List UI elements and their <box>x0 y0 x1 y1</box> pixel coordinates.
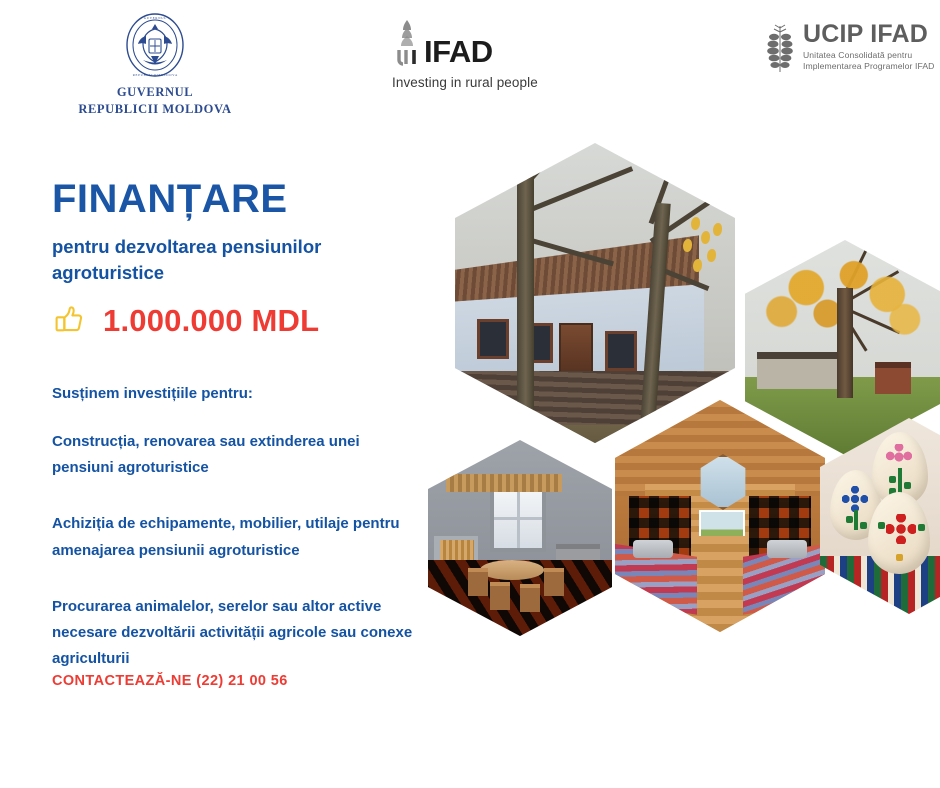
government-logo: G U V E R N U L R E P U B L I C I I M O … <box>40 12 270 118</box>
ifad-sheaf-icon <box>392 20 422 68</box>
ucip-wordmark: UCIP IFAD <box>803 22 934 47</box>
ucip-ifad-logo: UCIP IFAD Unitatea Consolidată pentru Im… <box>765 22 934 74</box>
svg-text:R E P U B L I C I I M O L D O: R E P U B L I C I I M O L D O V A <box>133 73 178 77</box>
page-subtitle: pentru dezvoltarea pensiunilor agroturis… <box>52 234 382 285</box>
svg-text:G U V E R N U L: G U V E R N U L <box>144 16 166 20</box>
contact-line[interactable]: CONTACTEAZĂ-NE (22) 21 00 56 <box>52 673 288 689</box>
ucip-subtitle: Unitatea Consolidată pentru Implementare… <box>803 50 934 72</box>
benefits-lead: Susținem investițiile pentru: <box>52 383 432 405</box>
gov-line-2: REPUBLICII MOLDOVA <box>40 101 270 118</box>
photo-traditional-interior-room <box>428 440 612 636</box>
ifad-logo: IFAD Investing in rural people <box>392 20 622 90</box>
thumbs-up-icon <box>52 304 86 338</box>
ucip-sub-line-1: Unitatea Consolidată pentru <box>803 50 934 61</box>
photo-wooden-cabin-bedroom <box>615 400 825 632</box>
ucip-text-block: UCIP IFAD Unitatea Consolidată pentru Im… <box>803 22 934 72</box>
wheat-ear-icon <box>765 24 795 74</box>
list-item: Procurarea animalelor, serelor sau altor… <box>52 594 422 673</box>
gov-line-1: GUVERNUL <box>40 84 270 101</box>
ifad-mark-row: IFAD <box>392 20 622 68</box>
list-item: Achiziția de echipamente, mobilier, util… <box>52 511 422 564</box>
logo-row: G U V E R N U L R E P U B L I C I I M O … <box>0 0 940 120</box>
ucip-sub-line-2: Implementarea Programelor IFAD <box>803 61 934 72</box>
photo-rural-house-with-bare-trees <box>455 143 735 443</box>
copy-column: FINANȚARE pentru dezvoltarea pensiunilor… <box>52 178 432 673</box>
hexagon-photo-collage <box>420 130 940 650</box>
ifad-tagline: Investing in rural people <box>392 75 622 90</box>
amount-row: 1.000.000 MDL <box>52 303 432 339</box>
funding-amount: 1.000.000 MDL <box>103 303 319 339</box>
ifad-wordmark: IFAD <box>424 37 493 66</box>
poster-canvas: G U V E R N U L R E P U B L I C I I M O … <box>0 0 940 788</box>
moldova-state-seal-icon: G U V E R N U L R E P U B L I C I I M O … <box>124 12 186 78</box>
page-title: FINANȚARE <box>52 178 432 220</box>
list-item: Construcția, renovarea sau extinderea un… <box>52 429 422 482</box>
benefits-list: Susținem investițiile pentru: Construcți… <box>52 383 432 673</box>
government-logo-caption: GUVERNUL REPUBLICII MOLDOVA <box>40 84 270 118</box>
